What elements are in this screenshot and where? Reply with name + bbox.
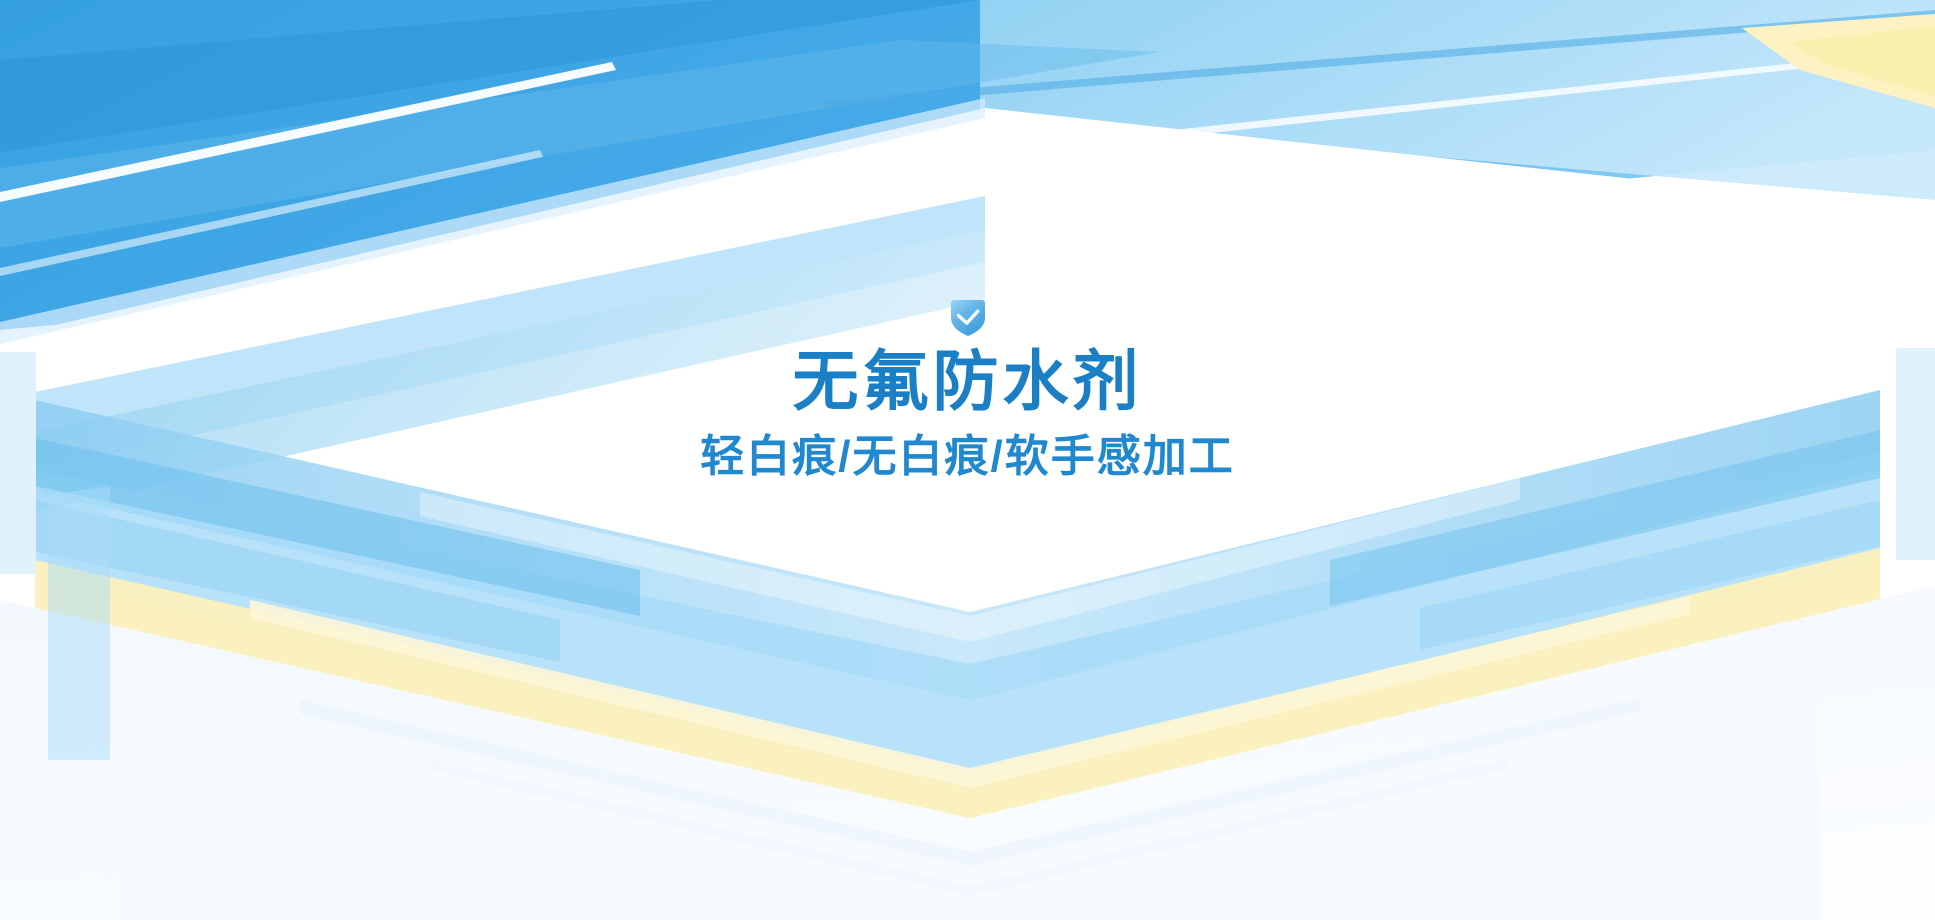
page-subtitle: 轻白痕/无白痕/软手感加工 (700, 433, 1234, 481)
page-title: 无氟防水剂 (793, 346, 1143, 417)
product-banner: 无氟防水剂 轻白痕/无白痕/软手感加工 (0, 0, 1935, 920)
shield-check-icon (947, 298, 989, 338)
banner-content: 无氟防水剂 轻白痕/无白痕/软手感加工 (0, 0, 1935, 920)
